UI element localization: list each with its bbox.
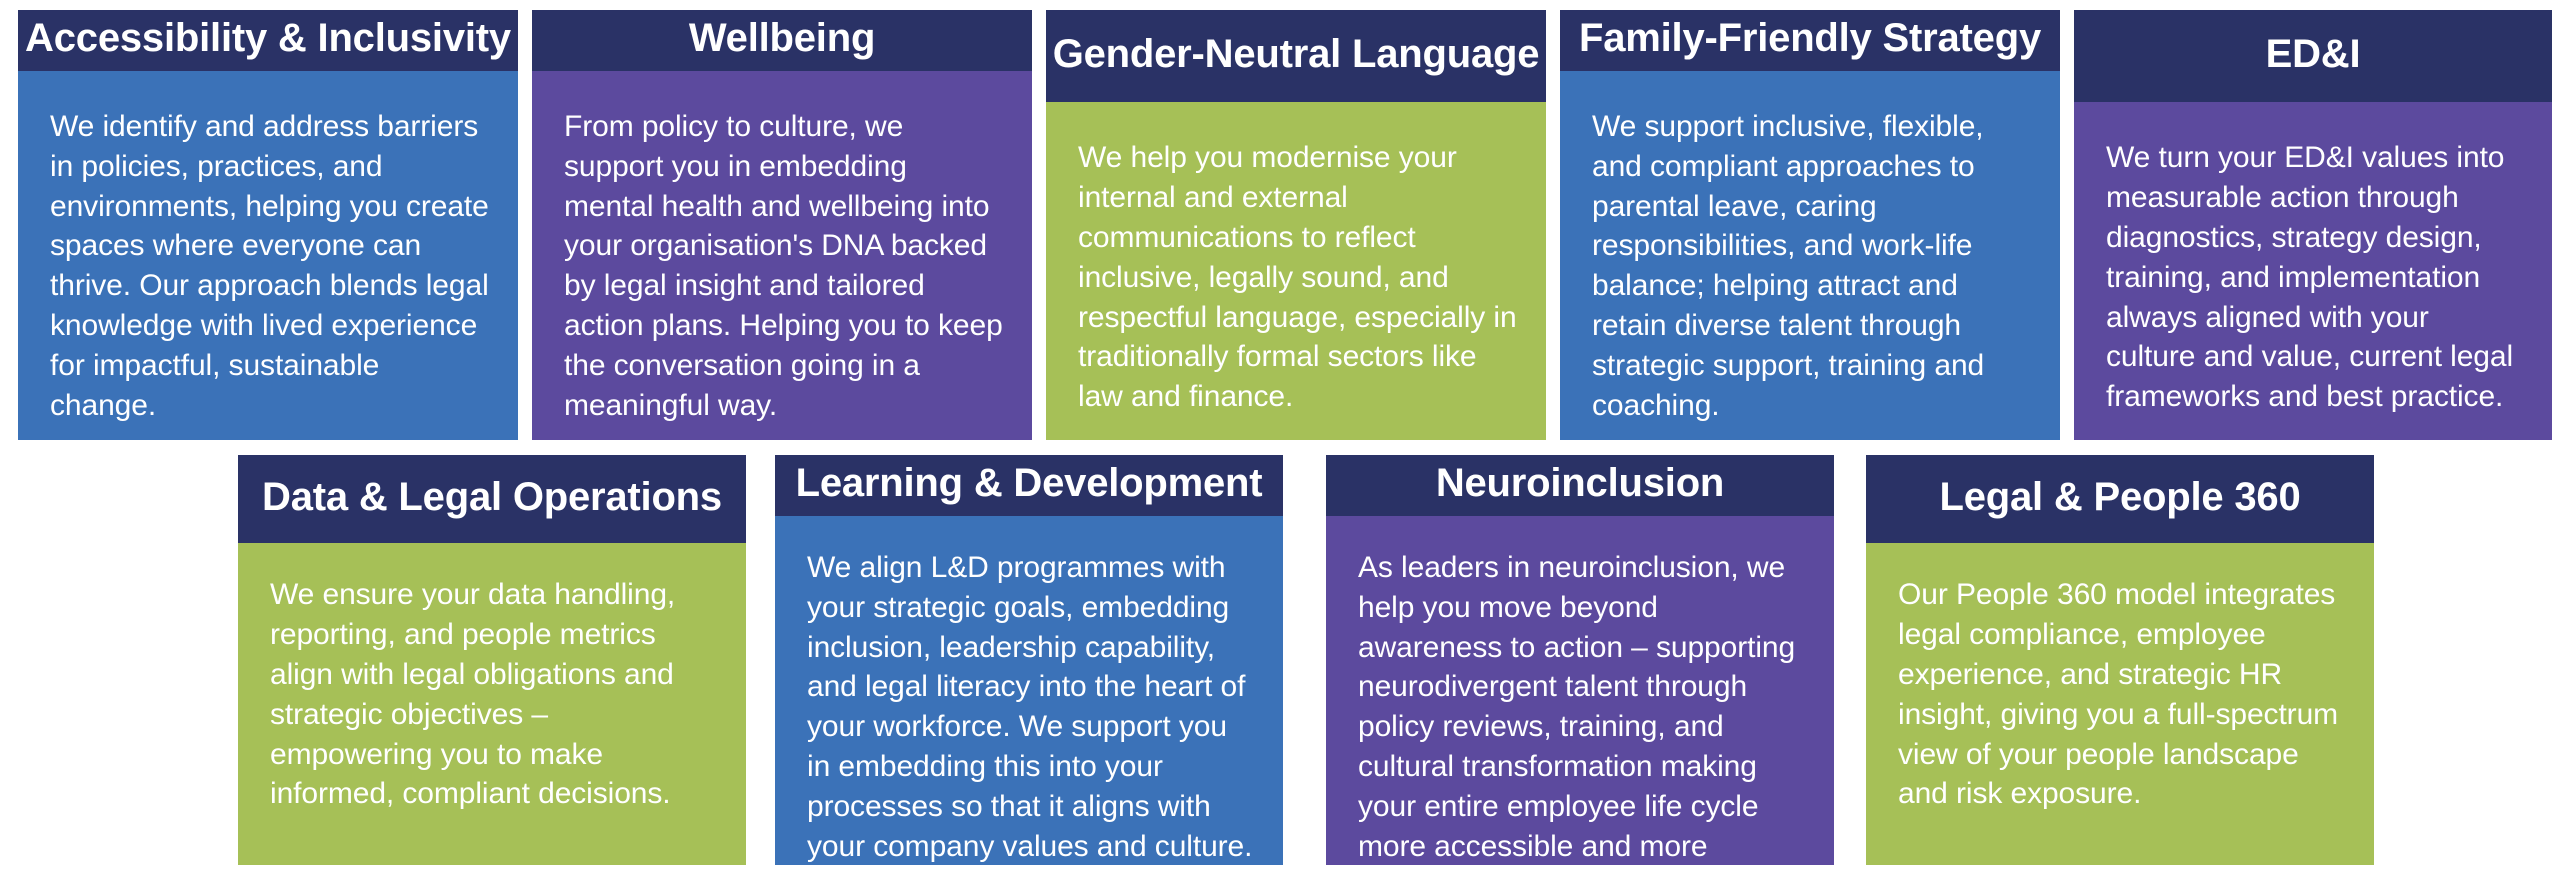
service-card-gender-neutral-language[interactable]: Gender-Neutral Language We help you mode… — [1046, 10, 1546, 440]
card-body: Our People 360 model integrates legal co… — [1866, 543, 2374, 865]
card-body: We align L&D programmes with your strate… — [775, 516, 1283, 865]
card-body: We ensure your data handling, reporting,… — [238, 543, 746, 865]
card-title: Accessibility & Inclusivity — [25, 16, 511, 61]
card-title: Gender-Neutral Language — [1053, 32, 1540, 77]
card-body: As leaders in neuroinclusion, we help yo… — [1326, 516, 1834, 865]
card-header: Accessibility & Inclusivity — [18, 10, 518, 71]
card-body: We identify and address barriers in poli… — [18, 71, 518, 440]
card-body: We support inclusive, flexible, and comp… — [1560, 71, 2060, 440]
card-description: We ensure your data handling, reporting,… — [270, 575, 718, 814]
card-header: Gender-Neutral Language — [1046, 10, 1546, 102]
card-header: Data & Legal Operations — [238, 455, 746, 543]
card-description: From policy to culture, we support you i… — [564, 107, 1004, 426]
service-card-learning-development[interactable]: Learning & Development We align L&D prog… — [775, 455, 1283, 865]
card-title: Neuroinclusion — [1436, 461, 1724, 506]
card-description: We help you modernise your internal and … — [1078, 138, 1518, 417]
card-title: Legal & People 360 — [1940, 475, 2301, 520]
card-header: Family-Friendly Strategy — [1560, 10, 2060, 71]
card-header: ED&I — [2074, 10, 2552, 102]
service-card-data-legal-operations[interactable]: Data & Legal Operations We ensure your d… — [238, 455, 746, 865]
card-description: Our People 360 model integrates legal co… — [1898, 575, 2346, 814]
service-card-edi[interactable]: ED&I We turn your ED&I values into measu… — [2074, 10, 2552, 440]
card-description: We align L&D programmes with your strate… — [807, 548, 1255, 865]
card-header: Learning & Development — [775, 455, 1283, 516]
card-title: Family-Friendly Strategy — [1579, 16, 2041, 61]
card-header: Wellbeing — [532, 10, 1032, 71]
card-header: Legal & People 360 — [1866, 455, 2374, 543]
card-body: We help you modernise your internal and … — [1046, 102, 1546, 440]
card-description: As leaders in neuroinclusion, we help yo… — [1358, 548, 1806, 865]
service-cards-board: Accessibility & Inclusivity We identify … — [0, 0, 2560, 870]
card-description: We turn your ED&I values into measurable… — [2106, 138, 2524, 417]
card-title: Wellbeing — [689, 16, 875, 61]
service-card-legal-people-360[interactable]: Legal & People 360 Our People 360 model … — [1866, 455, 2374, 865]
service-card-family-friendly-strategy[interactable]: Family-Friendly Strategy We support incl… — [1560, 10, 2060, 440]
card-title: ED&I — [2266, 32, 2361, 77]
card-body: We turn your ED&I values into measurable… — [2074, 102, 2552, 440]
service-card-wellbeing[interactable]: Wellbeing From policy to culture, we sup… — [532, 10, 1032, 440]
card-title: Data & Legal Operations — [262, 475, 722, 520]
service-card-neuroinclusion[interactable]: Neuroinclusion As leaders in neuroinclus… — [1326, 455, 1834, 865]
card-header: Neuroinclusion — [1326, 455, 1834, 516]
card-description: We identify and address barriers in poli… — [50, 107, 490, 426]
card-title: Learning & Development — [796, 461, 1263, 506]
service-card-accessibility-inclusivity[interactable]: Accessibility & Inclusivity We identify … — [18, 10, 518, 440]
card-body: From policy to culture, we support you i… — [532, 71, 1032, 440]
card-description: We support inclusive, flexible, and comp… — [1592, 107, 2032, 426]
